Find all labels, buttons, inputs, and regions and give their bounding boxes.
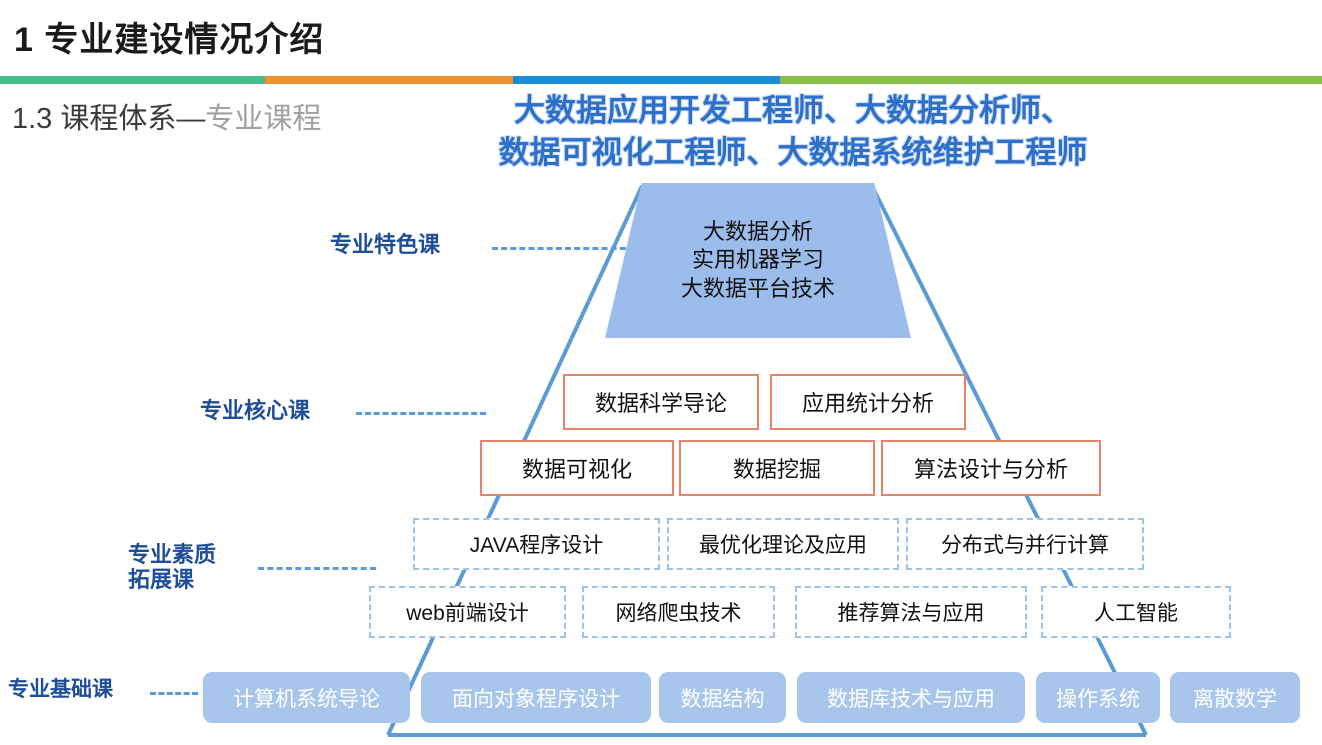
basic-course-box[interactable]: 数据结构: [659, 672, 786, 723]
core-course-box[interactable]: 数据挖掘: [679, 440, 875, 496]
tier-connector-2: [356, 412, 486, 415]
tier-label-specialty-basic: 专业基础课: [8, 678, 113, 702]
tier-label-specialty-core: 专业核心课: [200, 398, 310, 423]
tier-label-specialty-feature: 专业特色课: [330, 232, 440, 257]
extension-course-box[interactable]: 网络爬虫技术: [582, 586, 775, 638]
pyramid-top-tier: 大数据分析 实用机器学习 大数据平台技术: [605, 183, 911, 338]
tier-label-specialty-quality-line2: 拓展课: [128, 567, 216, 592]
basic-course-box[interactable]: 面向对象程序设计: [421, 672, 651, 723]
basic-course-box[interactable]: 操作系统: [1036, 672, 1160, 723]
core-course-box[interactable]: 数据科学导论: [563, 374, 759, 430]
core-course-box[interactable]: 应用统计分析: [770, 374, 966, 430]
basic-course-box[interactable]: 离散数学: [1170, 672, 1300, 723]
extension-course-box[interactable]: 推荐算法与应用: [795, 586, 1027, 638]
basic-course-box[interactable]: 数据库技术与应用: [797, 672, 1025, 723]
tier-label-specialty-quality-line1: 专业素质: [128, 542, 216, 567]
slide-canvas: 1 专业建设情况介绍 1.3 课程体系—专业课程 大数据应用开发工程师、大数据分…: [0, 0, 1322, 745]
core-course-box[interactable]: 数据可视化: [480, 440, 674, 496]
extension-course-box[interactable]: 人工智能: [1041, 586, 1231, 638]
tier-label-specialty-quality: 专业素质 拓展课: [128, 542, 216, 593]
pyramid-top-tier-courses: 大数据分析 实用机器学习 大数据平台技术: [681, 218, 835, 302]
extension-course-box[interactable]: 最优化理论及应用: [667, 518, 899, 570]
extension-course-box[interactable]: web前端设计: [369, 586, 566, 638]
core-course-box[interactable]: 算法设计与分析: [881, 440, 1101, 496]
basic-course-box[interactable]: 计算机系统导论: [203, 672, 410, 723]
tier-connector-1: [492, 247, 644, 250]
extension-course-box[interactable]: JAVA程序设计: [413, 518, 660, 570]
tier-connector-3: [258, 567, 376, 570]
extension-course-box[interactable]: 分布式与并行计算: [906, 518, 1144, 570]
tier-connector-4: [150, 692, 198, 695]
